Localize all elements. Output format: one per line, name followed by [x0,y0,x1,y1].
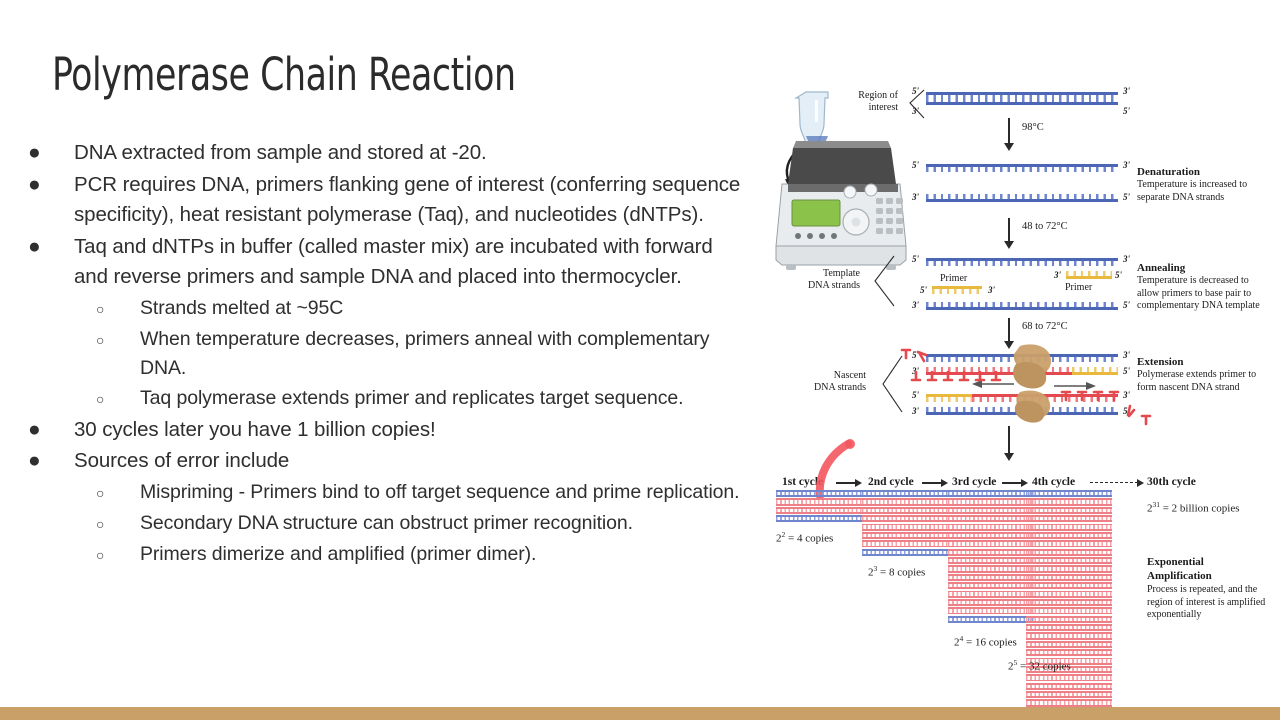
dna-copy-row [948,607,1034,614]
five-prime-label: 5' [912,86,919,96]
list-item: ○ Strands melted at ~95C [28,294,750,324]
five-prime-label: 5' [912,390,919,400]
cycle-stack-2 [862,490,948,557]
cycle-transition-arrow-icon [1008,426,1010,454]
stage-heading-exponential-line1: Exponential [1147,556,1204,568]
highlight-swoosh-icon [808,436,866,498]
five-prime-label: 5' [912,160,919,170]
page-title: Polymerase Chain Reaction [52,48,516,101]
five-prime-label: 5' [912,254,919,264]
dna-copy-row [1026,649,1112,656]
list-item-text: Primers dimerize and amplified (primer d… [140,540,750,569]
bullet-marker-filled-icon: ● [28,138,74,168]
duplex-dna-strand [926,92,1118,105]
dna-copy-row [1026,565,1112,572]
dna-copy-row [948,515,1034,522]
five-prime-label: 5' [1115,270,1122,280]
dna-copy-row [1026,498,1112,505]
three-prime-label: 3' [1123,350,1130,360]
cycle-count-4: 25 = 32 copies [1008,658,1071,673]
dna-copy-row [948,582,1034,589]
five-prime-label: 5' [920,285,927,295]
dna-copy-row [862,549,948,556]
stage-body-annealing: Temperature is decreased to allow primer… [1137,275,1270,313]
callout-bracket-icon [869,354,903,416]
five-prime-label: 5' [1123,366,1130,376]
cycle-count-30: 231 = 2 billion copies [1147,500,1240,515]
dna-copy-row [948,549,1034,556]
dna-copy-row [862,515,948,522]
stage-heading-exponential-line2: Amplification [1147,570,1212,582]
dna-copy-row [1026,582,1112,589]
dna-copy-row [948,498,1034,505]
dna-copy-row [862,532,948,539]
dna-copy-row [776,498,862,505]
dna-copy-row [1026,616,1112,623]
dna-copy-row [948,540,1034,547]
dna-copy-row [1026,607,1112,614]
three-prime-label: 3' [912,106,919,116]
bullet-marker-hollow-icon: ○ [96,384,140,414]
cycle-count-1: 22 = 4 copies [776,530,833,545]
thermocycler-body-icon [776,141,906,270]
cycle-stack-4 [1026,490,1112,720]
bullet-marker-hollow-icon: ○ [96,478,140,508]
cycle-stack-3 [948,490,1034,624]
nascent-dna-label-line1: Nascent [788,370,866,383]
pcr-diagram: Region of interest 5' 3' 3' 5' 98°C Dena… [760,78,1280,688]
annealing-arrow-icon [1008,218,1010,242]
dna-copy-row [1026,574,1112,581]
cycle-count-3: 24 = 16 copies [954,634,1017,649]
list-item-text: Strands melted at ~95C [140,294,750,323]
extension-arrow-icon [1008,318,1010,342]
dna-copy-row [948,507,1034,514]
dna-copy-row [1026,507,1112,514]
cycle-count-2: 23 = 8 copies [868,564,925,579]
slide-canvas: Polymerase Chain Reaction ● DNA extracte… [0,0,1280,720]
list-item: ● 30 cycles later you have 1 billion cop… [28,415,750,446]
region-of-interest-label-line1: Region of [820,90,898,103]
list-item: ● PCR requires DNA, primers flanking gen… [28,170,750,231]
dna-copy-row [948,574,1034,581]
bullet-marker-filled-icon: ● [28,446,74,476]
primer-strand-left [932,286,982,294]
list-item: ○ Secondary DNA structure can obstruct p… [28,509,750,539]
stage-heading-annealing: Annealing [1137,262,1185,274]
free-nucleotide-icon [1126,398,1160,428]
template-dna-label-line1: Template [782,268,860,281]
cycle-label-3: 3rd cycle [952,476,996,488]
dna-copy-row [948,616,1034,623]
three-prime-label: 3' [1054,270,1061,280]
dna-copy-row [862,507,948,514]
dna-copy-row [1026,515,1112,522]
cycle-label-4: 4th cycle [1032,476,1075,488]
extension-temperature: 68 to 72°C [1022,321,1068,332]
stage-body-extension: Polymerase extends primer to form nascen… [1137,369,1262,394]
dna-copy-row [1026,532,1112,539]
stage-heading-denaturation: Denaturation [1137,166,1200,178]
list-item-text: PCR requires DNA, primers flanking gene … [74,170,750,231]
list-item-text: DNA extracted from sample and stored at … [74,138,750,169]
list-item-text: Secondary DNA structure can obstruct pri… [140,509,750,538]
dna-copy-row [1026,599,1112,606]
dna-copy-row [1026,557,1112,564]
dna-copy-row [948,599,1034,606]
five-prime-label: 5' [1123,192,1130,202]
list-item: ○ Primers dimerize and amplified (primer… [28,540,750,570]
thermocycler-machine-icon [770,86,915,276]
denaturation-arrow-icon [1008,118,1010,144]
dna-copy-row [1026,549,1112,556]
primer-label-left: Primer [940,273,967,286]
bullet-marker-hollow-icon: ○ [96,509,140,539]
free-nucleotide-icon [910,366,1030,388]
cycle-label-30: 30th cycle [1147,476,1196,488]
template-strand-top [926,258,1118,266]
accent-bar [0,707,1280,720]
dna-copy-row [948,490,1034,497]
cycle-stack-1 [776,490,862,524]
dna-copy-row [1026,691,1112,698]
dna-copy-row [862,498,948,505]
cycle-arrow-2-3-icon [922,482,942,484]
single-dna-strand [926,194,1118,202]
dna-copy-row [1026,641,1112,648]
dna-copy-row [862,490,948,497]
list-item: ● DNA extracted from sample and stored a… [28,138,750,169]
list-item: ○ When temperature decreases, primers an… [28,325,750,383]
three-prime-label: 3' [1123,160,1130,170]
dna-copy-row [1026,524,1112,531]
dna-copy-row [948,524,1034,531]
dna-copy-row [1026,591,1112,598]
bullet-marker-filled-icon: ● [28,170,74,200]
stage-body-exponential: Process is repeated, and the region of i… [1147,584,1267,622]
cycle-arrow-4-30-icon [1090,482,1138,483]
list-item-text: Taq polymerase extends primer and replic… [140,384,750,413]
primer-strand-right [1066,271,1112,279]
list-item: ● Taq and dNTPs in buffer (called master… [28,232,750,293]
dna-copy-row [862,524,948,531]
callout-bracket-icon [863,254,895,310]
dna-copy-row [1026,624,1112,631]
dna-copy-row [1026,674,1112,681]
three-prime-label: 3' [1123,86,1130,96]
bullet-marker-hollow-icon: ○ [96,540,140,570]
list-item: ○ Taq polymerase extends primer and repl… [28,384,750,414]
dna-copy-row [1026,490,1112,497]
dna-copy-row [776,490,862,497]
three-prime-label: 3' [912,192,919,202]
annealing-temperature: 48 to 72°C [1022,221,1068,232]
bullet-marker-filled-icon: ● [28,415,74,445]
list-item: ○ Mispriming - Primers bind to off targe… [28,478,750,508]
list-item-text: Taq and dNTPs in buffer (called master m… [74,232,750,293]
list-item: ● Sources of error include [28,446,750,477]
three-prime-label: 3' [912,406,919,416]
list-item-text: 30 cycles later you have 1 billion copie… [74,415,750,446]
primer-strand-bottom [926,394,972,402]
cycle-arrow-3-4-icon [1002,482,1022,484]
dna-copy-row [948,565,1034,572]
dna-copy-row [776,507,862,514]
template-strand-bottom [926,302,1118,310]
list-item-text: Sources of error include [74,446,750,477]
stage-heading-extension: Extension [1137,356,1183,368]
bullet-marker-hollow-icon: ○ [96,325,140,355]
five-prime-label: 5' [1123,300,1130,310]
stage-body-denaturation: Temperature is increased to separate DNA… [1137,179,1265,204]
dna-copy-row [1026,683,1112,690]
bullet-marker-hollow-icon: ○ [96,294,140,324]
primer-label-right: Primer [1065,282,1092,295]
dna-copy-row [776,515,862,522]
cycle-label-2: 2nd cycle [868,476,914,488]
dna-copy-row [948,557,1034,564]
denaturation-temperature: 98°C [1022,122,1044,133]
primer-strand-top [1072,367,1118,375]
single-dna-strand [926,164,1118,172]
list-item-text: Mispriming - Primers bind to off target … [140,478,750,507]
five-prime-label: 5' [1123,106,1130,116]
dna-copy-row [948,532,1034,539]
list-item-text: When temperature decreases, primers anne… [140,325,750,383]
three-prime-label: 3' [988,285,995,295]
region-of-interest-label-line2: interest [820,102,898,115]
nascent-dna-label-line2: DNA strands [778,382,866,395]
dna-copy-row [1026,632,1112,639]
bullet-list: ● DNA extracted from sample and stored a… [28,138,750,571]
dna-copy-row [1026,699,1112,706]
dna-copy-row [1026,540,1112,547]
dna-copy-row [948,591,1034,598]
three-prime-label: 3' [912,300,919,310]
template-dna-label-line2: DNA strands [772,280,860,293]
dna-copy-row [862,540,948,547]
three-prime-label: 3' [1123,254,1130,264]
bullet-marker-filled-icon: ● [28,232,74,262]
